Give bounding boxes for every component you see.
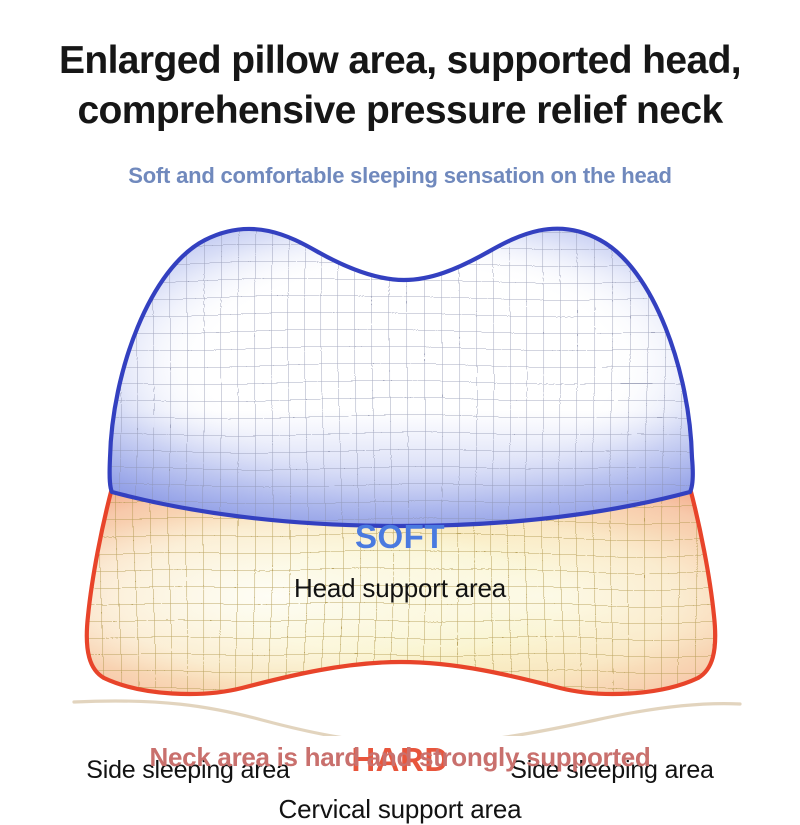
pillow-shadow — [74, 701, 740, 736]
pillow-soft-region — [60, 206, 760, 546]
pillow-diagram: SOFT Head support area HARD Cervical sup… — [0, 196, 800, 736]
soft-region-mesh — [60, 206, 760, 546]
pillow-infographic-page: Enlarged pillow area, supported head, co… — [0, 0, 800, 800]
page-title-line-1: Enlarged pillow area, supported head, — [0, 36, 800, 86]
pillow-illustration — [0, 196, 800, 736]
page-title-line-2: comprehensive pressure relief neck — [0, 86, 800, 136]
cervical-support-area-label: Cervical support area — [0, 794, 800, 825]
shadow-wave — [74, 701, 740, 736]
page-title: Enlarged pillow area, supported head, co… — [0, 36, 800, 136]
page-footnote: Neck area is hard and strongly supported — [0, 742, 800, 773]
page-subtitle: Soft and comfortable sleeping sensation … — [0, 163, 800, 189]
